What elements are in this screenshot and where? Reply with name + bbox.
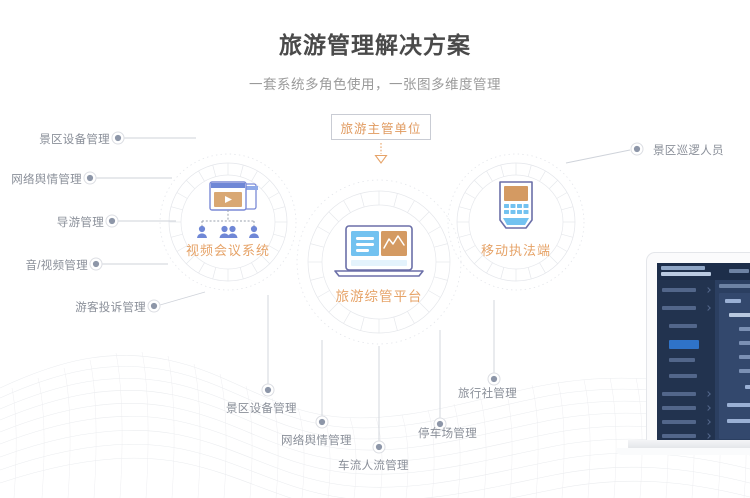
laptop-mockup <box>646 252 750 462</box>
chevron-right-icon <box>705 405 711 411</box>
page-header: 旅游管理解决方案 一套系统多角色使用，一张图多维度管理 <box>0 0 750 93</box>
left-connectors <box>96 138 205 305</box>
bottom-label-traffic-flow[interactable]: 车流人流管理 <box>338 457 409 473</box>
chevron-down-icon <box>705 305 711 311</box>
authority-label: 旅游主管单位 <box>340 118 421 137</box>
ring-tourism-platform <box>297 180 461 344</box>
dashboard-sidebar-item[interactable] <box>662 392 696 396</box>
dashboard-sidebar-item[interactable] <box>662 288 696 292</box>
dashboard-brand-line-1 <box>661 266 705 270</box>
dashboard-brand-line-2 <box>661 272 711 276</box>
node-caption-mobile-enforcement: 移动执法端 <box>456 240 576 259</box>
dashboard-tree-node[interactable] <box>729 313 750 317</box>
dashboard-sidebar-item[interactable] <box>662 306 696 310</box>
left-label-tourist-complaint[interactable]: 游客投诉管理 <box>0 299 146 315</box>
page-title: 旅游管理解决方案 <box>0 26 750 60</box>
dashboard-tree-node[interactable] <box>745 385 750 389</box>
bottom-connectors <box>268 295 494 441</box>
right-label-scenic-patrol[interactable]: 景区巡逻人员 <box>653 142 724 158</box>
solution-diagram-page: 旅游管理解决方案 一套系统多角色使用，一张图多维度管理 <box>0 0 750 498</box>
dashboard-tree-node[interactable] <box>739 327 750 331</box>
dashboard-tree-node[interactable] <box>739 341 750 345</box>
laptop-lid <box>646 252 750 442</box>
node-caption-tourism-platform: 旅游综管平台 <box>319 285 439 305</box>
laptop-base-foot <box>616 448 750 455</box>
left-label-audio-video[interactable]: 音/视频管理 <box>0 257 88 273</box>
dashboard-sidebar-subitem[interactable] <box>669 374 697 378</box>
dashboard-main-panel <box>715 280 750 443</box>
left-label-tour-guide[interactable]: 导游管理 <box>0 214 104 230</box>
bottom-label-travel-agency[interactable]: 旅行社管理 <box>458 385 517 401</box>
dashboard-preview[interactable] <box>657 263 750 443</box>
dashboard-tree-node[interactable] <box>727 419 750 423</box>
chevron-right-icon <box>705 391 711 397</box>
chevron-right-icon <box>705 287 711 293</box>
node-caption-video-conference: 视频会议系统 <box>168 240 288 259</box>
video-conference-icon <box>197 182 259 238</box>
dashboard-tree-header <box>725 299 741 303</box>
right-connectors <box>566 150 630 163</box>
dashboard-sidebar <box>657 280 715 443</box>
dashboard-sidebar-item-active[interactable] <box>669 340 699 349</box>
dashboard-tree-node[interactable] <box>739 355 750 359</box>
dashboard-sidebar-item[interactable] <box>662 434 696 438</box>
dashboard-sidebar-item[interactable] <box>662 406 696 410</box>
handheld-device-icon <box>500 182 532 228</box>
authority-connector <box>376 142 387 163</box>
dashboard-sidebar-subitem[interactable] <box>669 358 695 362</box>
left-label-public-opinion[interactable]: 网络舆情管理 <box>0 171 82 187</box>
dashboard-tree-node[interactable] <box>739 369 750 373</box>
ring-mobile-enforcement <box>448 154 584 290</box>
dashboard-tree-panel[interactable] <box>719 293 750 439</box>
dashboard-breadcrumb <box>719 284 750 288</box>
authority-box[interactable]: 旅游主管单位 <box>331 114 431 140</box>
bottom-label-public-opinion[interactable]: 网络舆情管理 <box>281 432 352 448</box>
ring-video-conference <box>160 154 296 290</box>
chevron-right-icon <box>705 433 711 439</box>
chevron-right-icon <box>705 419 711 425</box>
left-label-scenic-equipment[interactable]: 景区设备管理 <box>0 131 110 147</box>
bottom-label-parking[interactable]: 停车场管理 <box>418 425 477 441</box>
bottom-label-scenic-equipment[interactable]: 景区设备管理 <box>226 400 297 416</box>
page-subtitle: 一套系统多角色使用，一张图多维度管理 <box>0 73 750 93</box>
right-connector-dots <box>631 143 643 155</box>
dashboard-sidebar-item[interactable] <box>662 420 696 424</box>
dashboard-sidebar-subitem[interactable] <box>669 324 697 328</box>
dashboard-topmenu-1[interactable] <box>729 269 749 273</box>
dashboard-tree-node[interactable] <box>727 403 750 407</box>
laptop-dashboard-icon <box>335 226 423 276</box>
